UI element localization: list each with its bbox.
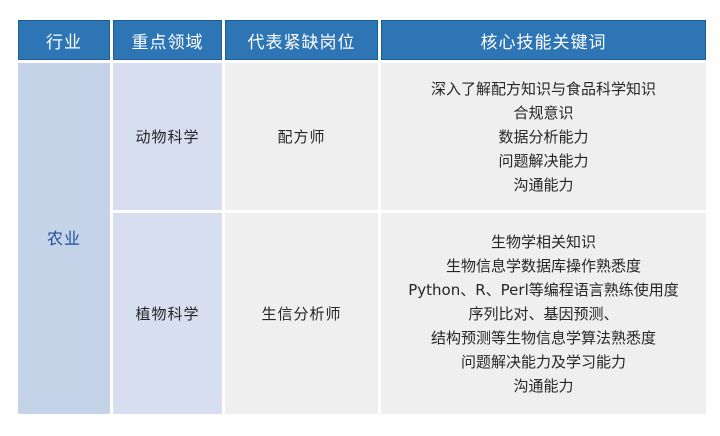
cell-field-row-0: 动物科学 <box>113 63 222 210</box>
skill-keyword-line: Python、R、Perl等编程语言熟练使用度 <box>387 278 700 302</box>
column-header-industry: 行业 <box>18 20 110 60</box>
cell-field-row-1: 植物科学 <box>113 213 222 414</box>
skills-table-container: 行业 重点领域 代表紧缺岗位 核心技能关键词 农业 动物科学 配方师 深入了解配… <box>18 20 703 420</box>
skill-keyword-line: 合规意识 <box>387 101 700 125</box>
skill-keyword-line: 生物信息学数据库操作熟悉度 <box>387 254 700 278</box>
skill-keyword-line: 问题解决能力及学习能力 <box>387 350 700 374</box>
cell-industry-agriculture: 农业 <box>18 63 110 414</box>
skill-keyword-line: 沟通能力 <box>387 173 700 197</box>
skill-keyword-line: 问题解决能力 <box>387 149 700 173</box>
skill-keyword-line: 序列比对、基因预测、 <box>387 302 700 326</box>
industry-skills-table: 行业 重点领域 代表紧缺岗位 核心技能关键词 农业 动物科学 配方师 深入了解配… <box>15 17 709 417</box>
skill-keyword-line: 生物学相关知识 <box>387 230 700 254</box>
cell-skills-row-1: 生物学相关知识生物信息学数据库操作熟悉度Python、R、Perl等编程语言熟练… <box>381 213 706 414</box>
cell-skills-row-0: 深入了解配方知识与食品科学知识合规意识数据分析能力问题解决能力沟通能力 <box>381 63 706 210</box>
skill-keyword-line: 结构预测等生物信息学算法熟悉度 <box>387 326 700 350</box>
skill-keyword-line: 深入了解配方知识与食品科学知识 <box>387 77 700 101</box>
header-row: 行业 重点领域 代表紧缺岗位 核心技能关键词 <box>18 20 706 60</box>
cell-role-row-0: 配方师 <box>225 63 378 210</box>
column-header-role: 代表紧缺岗位 <box>225 20 378 60</box>
table-row: 农业 动物科学 配方师 深入了解配方知识与食品科学知识合规意识数据分析能力问题解… <box>18 63 706 210</box>
cell-role-row-1: 生信分析师 <box>225 213 378 414</box>
table-header: 行业 重点领域 代表紧缺岗位 核心技能关键词 <box>18 20 706 60</box>
column-header-skills: 核心技能关键词 <box>381 20 706 60</box>
table-row: 植物科学 生信分析师 生物学相关知识生物信息学数据库操作熟悉度Python、R、… <box>18 213 706 414</box>
skill-keyword-line: 沟通能力 <box>387 374 700 398</box>
column-header-field: 重点领域 <box>113 20 222 60</box>
table-body: 农业 动物科学 配方师 深入了解配方知识与食品科学知识合规意识数据分析能力问题解… <box>18 63 706 414</box>
skill-keyword-line: 数据分析能力 <box>387 125 700 149</box>
